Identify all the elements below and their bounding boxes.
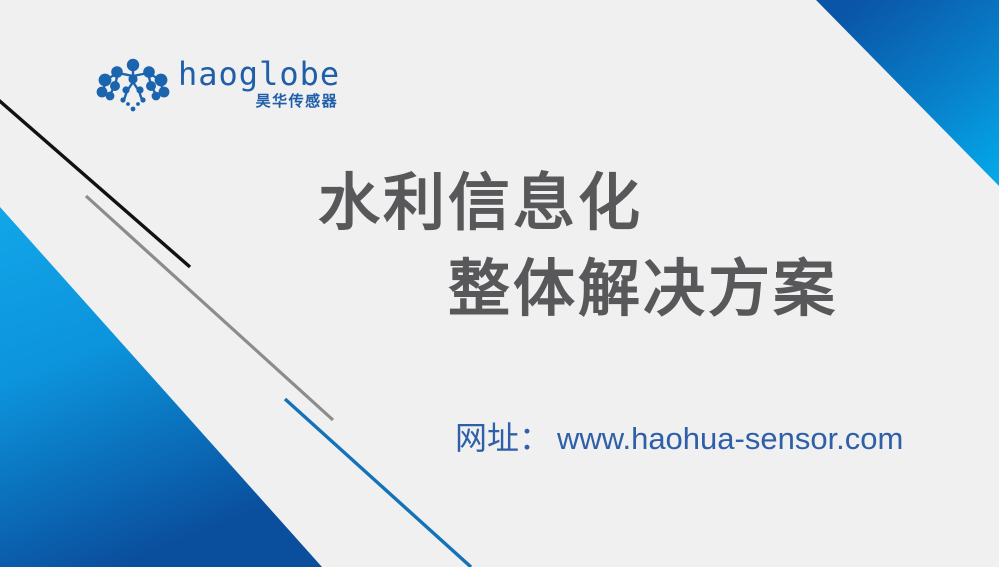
haoglobe-network-mark — [96, 57, 170, 115]
logo-subtitle: 昊华传感器 — [256, 93, 339, 110]
logo-text: haoglobe 昊华传感器 — [178, 57, 340, 110]
website-line: 网址： www.haohua-sensor.com — [455, 418, 903, 459]
logo-wordmark: haoglobe — [178, 57, 340, 91]
title-line-1: 水利信息化 — [0, 160, 999, 246]
presentation-slide: haoglobe 昊华传感器 水利信息化 整体解决方案 网址： www.haoh… — [0, 0, 999, 567]
slide-title: 水利信息化 整体解决方案 — [0, 160, 999, 332]
company-logo: haoglobe 昊华传感器 — [96, 57, 340, 115]
website-label: 网址： — [455, 418, 551, 458]
top-right-blue-wedge — [816, 0, 999, 186]
title-line-2: 整体解决方案 — [0, 246, 999, 332]
blue-diagonal-line — [285, 399, 471, 567]
website-url[interactable]: www.haohua-sensor.com — [557, 419, 903, 459]
